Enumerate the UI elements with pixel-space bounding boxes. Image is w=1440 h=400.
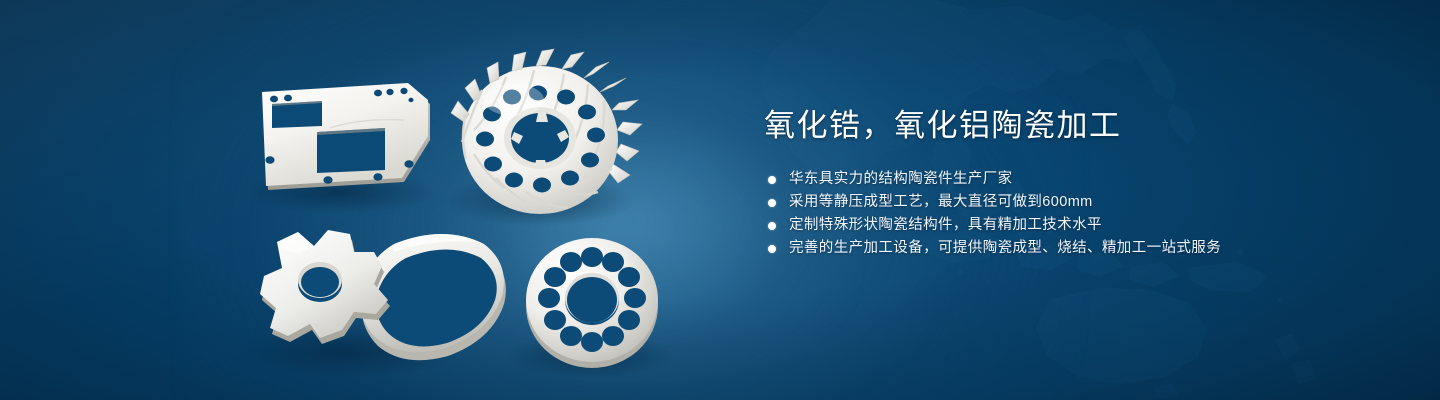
product-banner: 氧化锆，氧化铝陶瓷加工 华东具实力的结构陶瓷件生产厂家 采用等静压成型工艺，最大…: [0, 0, 1440, 400]
feature-text: 定制特殊形状陶瓷结构件，具有精加工技术水平: [789, 214, 1102, 237]
banner-text-block: 氧化锆，氧化铝陶瓷加工 华东具实力的结构陶瓷件生产厂家 采用等静压成型工艺，最大…: [764, 106, 1364, 260]
list-item: 定制特殊形状陶瓷结构件，具有精加工技术水平: [768, 214, 1364, 237]
banner-headline: 氧化锆，氧化铝陶瓷加工: [764, 106, 1364, 146]
ceramic-plate-part: [262, 83, 430, 190]
list-item: 采用等静压成型工艺，最大直径可做到600mm: [768, 191, 1364, 214]
feature-text: 采用等静压成型工艺，最大直径可做到600mm: [789, 191, 1093, 214]
banner-feature-list: 华东具实力的结构陶瓷件生产厂家 采用等静压成型工艺，最大直径可做到600mm 定…: [768, 168, 1364, 260]
bullet-dot-icon: [768, 176, 776, 184]
list-item: 完善的生产加工设备，可提供陶瓷成型、烧结、精加工一站式服务: [768, 237, 1364, 260]
feature-text: 华东具实力的结构陶瓷件生产厂家: [789, 168, 1013, 191]
bullet-dot-icon: [768, 222, 776, 230]
feature-text: 完善的生产加工设备，可提供陶瓷成型、烧结、精加工一站式服务: [789, 237, 1221, 260]
bullet-dot-icon: [768, 199, 776, 207]
list-item: 华东具实力的结构陶瓷件生产厂家: [768, 168, 1364, 191]
bullet-dot-icon: [768, 245, 776, 253]
ceramic-products-photo: [0, 0, 720, 400]
ceramic-perforated-disc-part: [526, 238, 658, 368]
